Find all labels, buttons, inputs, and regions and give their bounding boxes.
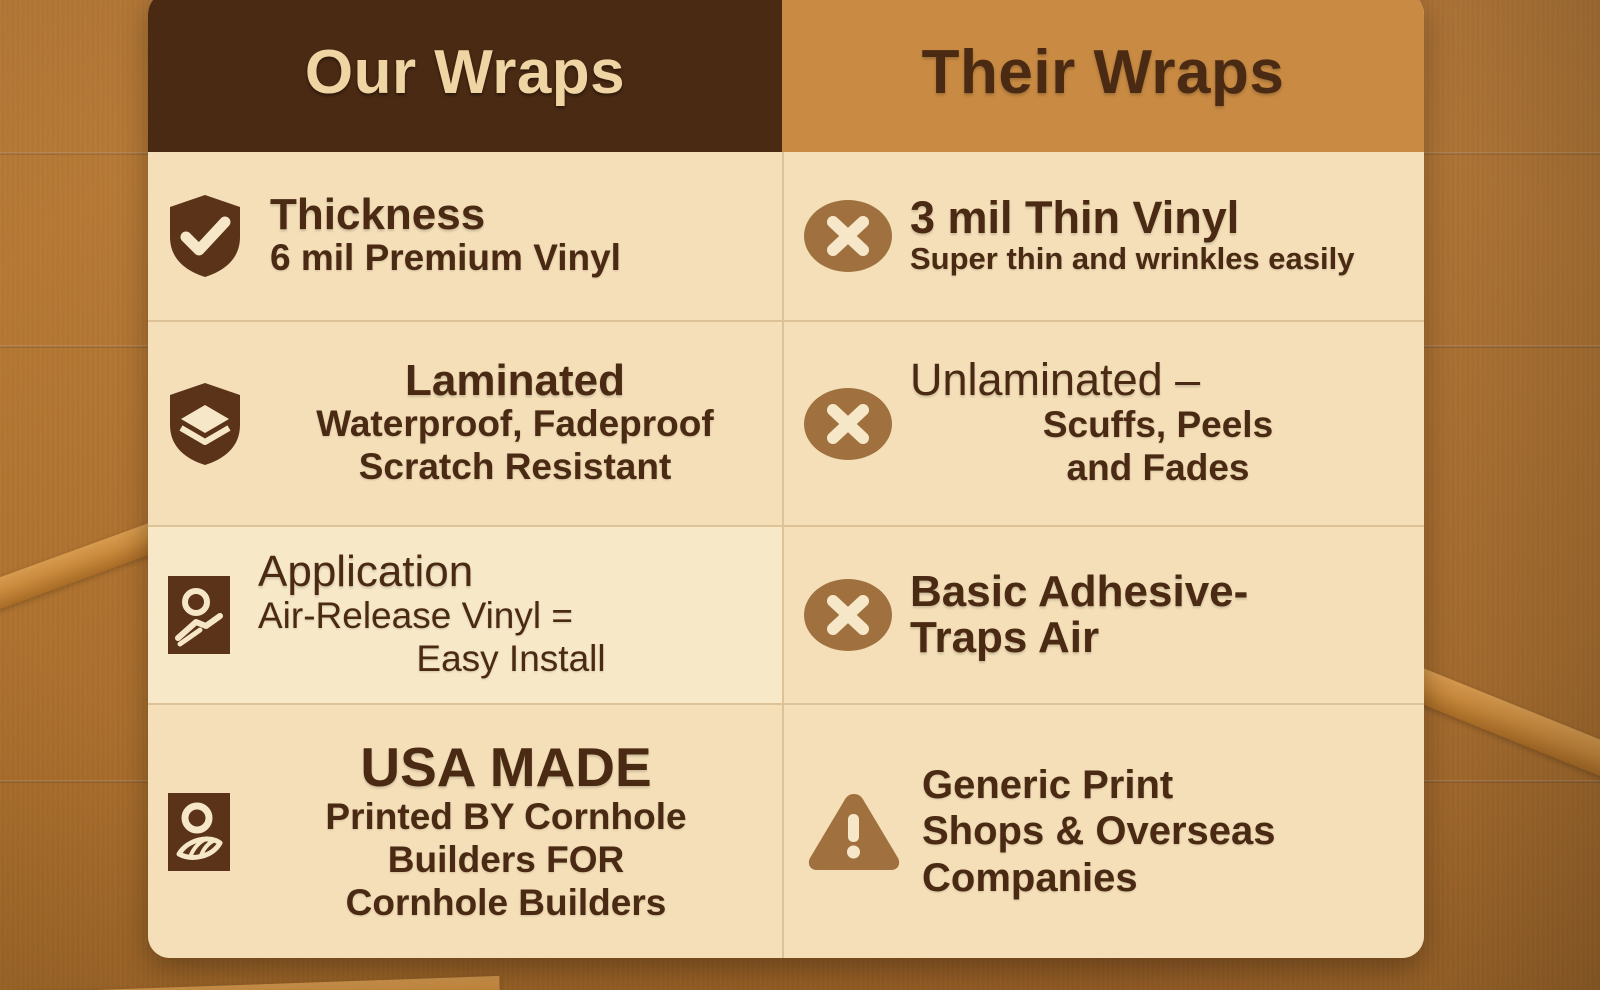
table-row: USA MADE Printed BY Cornhole Builders FO… (148, 703, 1424, 958)
usa-made-badge-icon (166, 791, 232, 873)
row-4-our-title: USA MADE (360, 739, 651, 796)
row-1-our-line-1: 6 mil Premium Vinyl (270, 237, 621, 280)
row-2-our-text: Laminated Waterproof, Fadeproof Scratch … (260, 358, 764, 490)
row-2-their-line-1: Scuffs, Peels (1043, 404, 1273, 447)
row-2-our-cell: Laminated Waterproof, Fadeproof Scratch … (148, 322, 782, 525)
row-4-our-line-2: Builders FOR (388, 839, 624, 882)
row-4-our-cell: USA MADE Printed BY Cornhole Builders FO… (148, 705, 782, 958)
row-2-their-text: Unlaminated – Scuffs, Peels and Fades (910, 357, 1406, 490)
row-2-our-title: Laminated (405, 358, 625, 404)
header-cell-our-wraps: Our Wraps (148, 0, 782, 152)
row-4-our-line-1: Printed BY Cornhole (325, 796, 686, 839)
row-3-our-line-1: Air-Release Vinyl = (258, 595, 573, 638)
row-2-their-line-2: and Fades (1067, 447, 1250, 490)
row-4-their-cell: Generic Print Shops & Overseas Companies (782, 705, 1424, 958)
row-4-their-line-1: Generic Print (922, 762, 1173, 808)
table-row: Application Air-Release Vinyl = Easy Ins… (148, 525, 1424, 703)
application-badge-icon (166, 574, 232, 656)
row-1-their-line-1: Super thin and wrinkles easily (910, 241, 1354, 277)
row-3-their-title: Basic Adhesive- (910, 569, 1248, 615)
row-3-our-text: Application Air-Release Vinyl = Easy Ins… (248, 549, 764, 681)
row-4-our-line-3: Cornhole Builders (346, 882, 667, 925)
comparison-table-card: Our Wraps Their Wraps Thickness 6 mil Pr… (148, 0, 1424, 958)
row-4-their-text: Generic Print Shops & Overseas Companies (922, 762, 1406, 901)
x-circle-icon (802, 386, 894, 462)
table-header-row: Our Wraps Their Wraps (148, 0, 1424, 152)
row-1-their-text: 3 mil Thin Vinyl Super thin and wrinkles… (910, 195, 1406, 278)
row-3-their-line-1: Traps Air (910, 615, 1099, 661)
row-4-their-line-3: Companies (922, 855, 1138, 901)
row-2-our-line-2: Scratch Resistant (359, 446, 672, 489)
table-row: Thickness 6 mil Premium Vinyl 3 mil Thin… (148, 152, 1424, 320)
row-3-our-cell: Application Air-Release Vinyl = Easy Ins… (148, 527, 782, 703)
row-3-our-line-2: Easy Install (416, 638, 605, 681)
shield-layers-icon (166, 381, 244, 467)
row-1-our-cell: Thickness 6 mil Premium Vinyl (148, 152, 782, 320)
x-circle-icon (802, 198, 894, 274)
row-1-our-text: Thickness 6 mil Premium Vinyl (260, 192, 764, 281)
row-3-their-text: Basic Adhesive- Traps Air (910, 569, 1406, 661)
row-4-their-line-2: Shops & Overseas (922, 808, 1276, 854)
header-our-wraps-label: Our Wraps (305, 37, 625, 108)
warning-triangle-icon (802, 786, 906, 878)
table-body: Thickness 6 mil Premium Vinyl 3 mil Thin… (148, 152, 1424, 958)
row-1-their-title: 3 mil Thin Vinyl (910, 195, 1239, 242)
row-4-our-text: USA MADE Printed BY Cornhole Builders FO… (248, 739, 764, 925)
header-cell-their-wraps: Their Wraps (782, 0, 1424, 152)
row-1-their-cell: 3 mil Thin Vinyl Super thin and wrinkles… (782, 152, 1424, 320)
row-2-their-title: Unlaminated – (910, 357, 1200, 404)
header-their-wraps-label: Their Wraps (922, 37, 1285, 108)
shield-check-icon (166, 193, 244, 279)
table-row: Laminated Waterproof, Fadeproof Scratch … (148, 320, 1424, 525)
row-2-their-cell: Unlaminated – Scuffs, Peels and Fades (782, 322, 1424, 525)
x-circle-icon (802, 577, 894, 653)
row-3-our-title: Application (258, 549, 473, 595)
row-3-their-cell: Basic Adhesive- Traps Air (782, 527, 1424, 703)
row-2-our-line-1: Waterproof, Fadeproof (316, 403, 713, 446)
row-1-our-title: Thickness (270, 192, 485, 238)
